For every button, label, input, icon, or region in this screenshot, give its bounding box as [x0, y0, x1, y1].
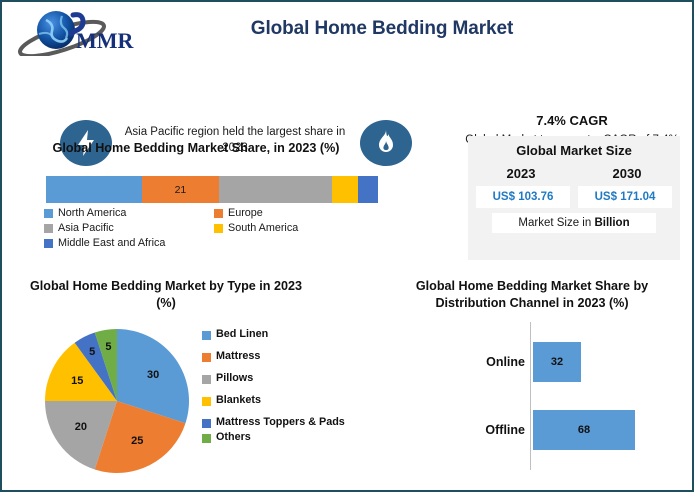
- region-share-title: Global Home Bedding Market Share, in 202…: [26, 141, 366, 155]
- distribution-row: Online32: [382, 342, 682, 382]
- region-legend-label: Asia Pacific: [58, 222, 114, 234]
- legend-swatch-icon: [44, 224, 53, 233]
- region-legend-item: South America: [214, 222, 384, 234]
- type-pie-chart: 3025201555: [42, 326, 192, 476]
- mmr-logo: MMR: [16, 8, 148, 56]
- pie-legend-label: Bed Linen: [216, 328, 268, 341]
- distribution-category-label: Offline: [382, 423, 533, 437]
- pie-legend-label: Others: [216, 431, 251, 444]
- pie-slice-value: 5: [105, 341, 111, 353]
- pie-slice-value: 20: [75, 421, 87, 433]
- pie-slice-value: 15: [71, 375, 83, 387]
- callout-row: Asia Pacific region held the largest sha…: [2, 58, 692, 124]
- pie-legend-label: Blankets: [216, 394, 261, 407]
- market-size-years: 2023 2030: [468, 166, 680, 181]
- distribution-bar-value: 68: [578, 424, 590, 436]
- market-size-unit: Market Size in Billion: [492, 213, 656, 233]
- region-legend-label: South America: [228, 222, 298, 234]
- pie-legend-label: Mattress Toppers & Pads: [216, 416, 345, 429]
- pie-slice-value: 30: [147, 369, 159, 381]
- legend-swatch-icon: [214, 224, 223, 233]
- market-size-unit-prefix: Market Size in: [518, 217, 594, 229]
- region-legend-item: Asia Pacific: [44, 222, 214, 234]
- region-legend-label: Middle East and Africa: [58, 237, 165, 249]
- region-share-panel: Global Home Bedding Market Share, in 202…: [20, 135, 440, 270]
- region-stacked-bar: 21: [46, 176, 378, 203]
- region-segment: [332, 176, 359, 203]
- pie-legend-label: Mattress: [216, 350, 260, 363]
- market-size-value-2023: US$ 103.76: [476, 186, 570, 208]
- legend-swatch-icon: [202, 331, 211, 340]
- legend-swatch-icon: [214, 209, 223, 218]
- pie-slice-value: 5: [89, 346, 95, 358]
- pie-slice-value: 25: [131, 435, 143, 447]
- distribution-bar: 32: [533, 342, 581, 382]
- cagr-headline: 7.4% CAGR: [457, 113, 687, 128]
- distribution-category-label: Online: [382, 355, 533, 369]
- market-size-value-2030: US$ 171.04: [578, 186, 672, 208]
- region-legend-label: North America: [58, 207, 126, 219]
- market-size-year-2030: 2030: [574, 166, 680, 181]
- region-legend-item: Europe: [214, 207, 384, 219]
- type-pie-panel: Global Home Bedding Market by Type in 20…: [16, 274, 368, 490]
- svg-text:MMR: MMR: [76, 28, 135, 53]
- pie-legend-item: Mattress Toppers & Pads: [202, 416, 362, 429]
- distribution-panel: Global Home Bedding Market Share by Dist…: [372, 274, 692, 490]
- legend-swatch-icon: [202, 397, 211, 406]
- region-segment-value: 21: [142, 184, 218, 196]
- region-segment: [358, 176, 378, 203]
- market-size-unit-bold: Billion: [594, 217, 629, 229]
- pie-legend-item: Bed Linen: [202, 328, 362, 341]
- pie-legend-item: Others: [202, 431, 362, 444]
- legend-swatch-icon: [202, 353, 211, 362]
- header: MMR Global Home Bedding Market: [2, 2, 692, 58]
- pie-legend-item: Pillows: [202, 372, 362, 385]
- market-size-title: Global Market Size: [468, 136, 680, 158]
- region-legend: North AmericaEuropeAsia PacificSouth Ame…: [44, 207, 384, 252]
- region-legend-item: Middle East and Africa: [44, 237, 214, 249]
- region-legend-label: Europe: [228, 207, 263, 219]
- legend-swatch-icon: [202, 434, 211, 443]
- market-size-panel: Global Market Size 2023 2030 US$ 103.76 …: [468, 136, 680, 260]
- legend-swatch-icon: [202, 375, 211, 384]
- pie-legend-label: Pillows: [216, 372, 253, 385]
- distribution-bar-value: 32: [551, 356, 563, 368]
- legend-swatch-icon: [202, 419, 211, 428]
- pie-legend-item: Mattress: [202, 350, 362, 363]
- market-size-year-2023: 2023: [468, 166, 574, 181]
- type-pie-legend: Bed LinenMattressPillowsBlanketsMattress…: [202, 328, 362, 453]
- region-segment: 21: [142, 176, 218, 203]
- region-segment: [219, 176, 332, 203]
- pie-legend-item: Blankets: [202, 394, 362, 407]
- region-legend-item: North America: [44, 207, 214, 219]
- distribution-row: Offline68: [382, 410, 682, 450]
- legend-swatch-icon: [44, 239, 53, 248]
- distribution-plot: Online32Offline68: [382, 322, 682, 472]
- type-pie-title: Global Home Bedding Market by Type in 20…: [26, 278, 306, 312]
- distribution-title: Global Home Bedding Market Share by Dist…: [382, 278, 682, 312]
- region-segment: [46, 176, 142, 203]
- market-size-values: US$ 103.76 US$ 171.04: [468, 186, 680, 208]
- infographic-root: MMR Global Home Bedding Market Asia Paci…: [0, 0, 694, 492]
- page-title: Global Home Bedding Market: [182, 18, 582, 40]
- legend-swatch-icon: [44, 209, 53, 218]
- distribution-bar: 68: [533, 410, 635, 450]
